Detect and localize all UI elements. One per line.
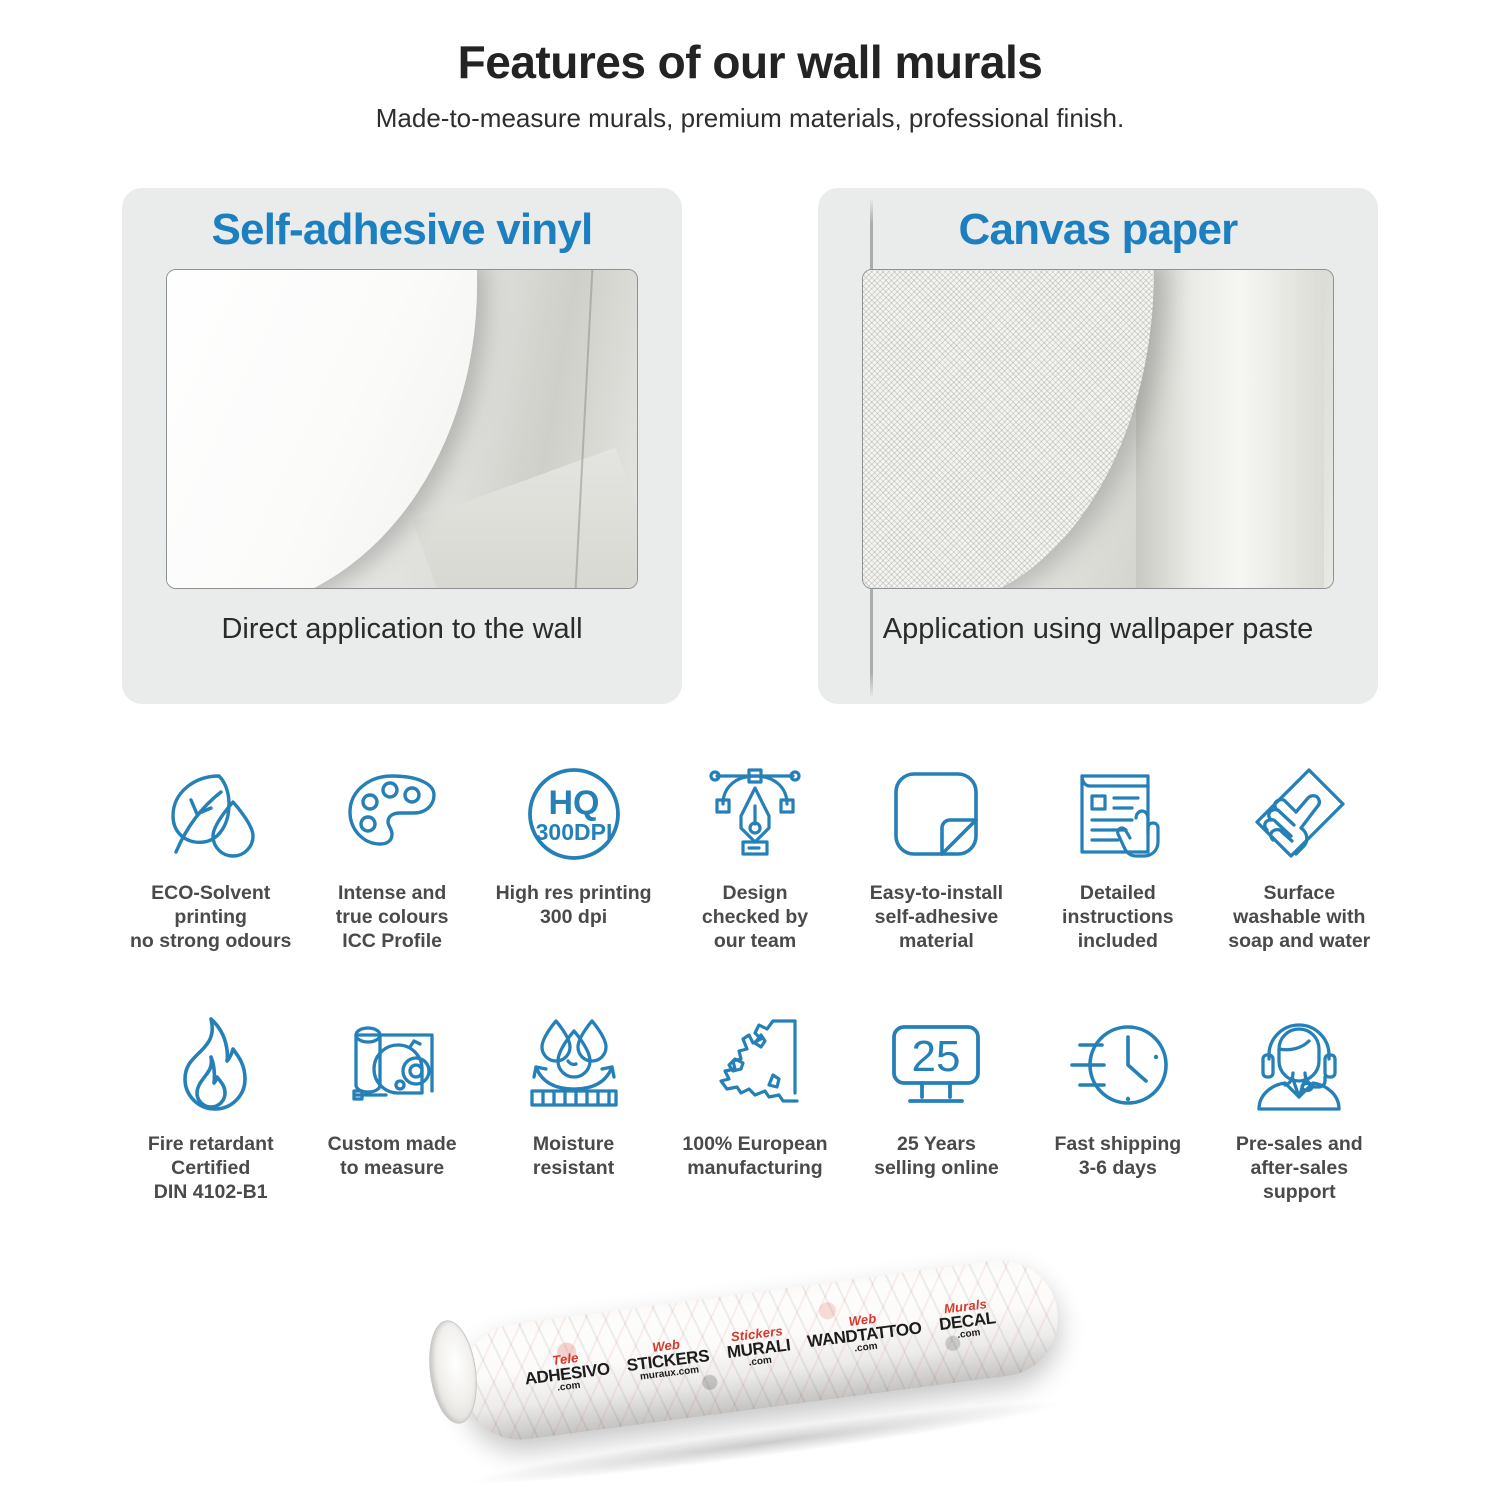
feature-label: 100% European manufacturing (682, 1133, 827, 1181)
feature-label: High res printing 300 dpi (496, 882, 652, 930)
feature-european-manufacturing: 100% European manufacturing (664, 1009, 845, 1204)
feature-label: Fire retardant Certified DIN 4102-B1 (148, 1133, 274, 1204)
feature-design-check: Design checked by our team (664, 758, 845, 953)
card-title-canvas: Canvas paper (959, 202, 1238, 257)
feature-label: Custom made to measure (328, 1133, 457, 1181)
feature-support: Pre-sales and after-sales support (1209, 1009, 1390, 1204)
feature-label: 25 Years selling online (874, 1133, 999, 1181)
paint-palette-icon (340, 758, 444, 870)
feature-25-years: 25 25 Years selling online (846, 1009, 1027, 1204)
feature-eco-solvent: ECO-Solvent printing no strong odours (120, 758, 301, 953)
canvas-photo (862, 269, 1334, 589)
feature-label: Intense and true colours ICC Profile (336, 882, 449, 953)
page-title: Features of our wall murals (0, 36, 1500, 89)
feature-icon-grid: ECO-Solvent printing no strong odours In… (120, 758, 1390, 1205)
features-page: Features of our wall murals Made-to-meas… (0, 0, 1500, 1500)
canvas-photo-roll (1136, 269, 1324, 589)
years-badge-value: 25 (912, 1032, 961, 1081)
cleaning-cloth-icon (1247, 758, 1351, 870)
card-caption-vinyl: Direct application to the wall (221, 611, 582, 649)
card-title-vinyl: Self-adhesive vinyl (212, 202, 593, 257)
feature-fast-shipping: Fast shipping 3-6 days (1027, 1009, 1208, 1204)
feature-fire-retardant: Fire retardant Certified DIN 4102-B1 (120, 1009, 301, 1204)
page-header: Features of our wall murals Made-to-meas… (0, 0, 1500, 134)
feature-label: ECO-Solvent printing no strong odours (130, 882, 291, 953)
feature-label: Surface washable with soap and water (1228, 882, 1370, 953)
tube-brand: Tele ADHESIVO .com (522, 1347, 612, 1397)
hq-300dpi-badge-icon: HQ 300DPI (522, 758, 626, 870)
hq-badge-top: HQ (548, 784, 599, 822)
water-repellent-icon (522, 1009, 626, 1121)
feature-label: Fast shipping 3-6 days (1054, 1133, 1181, 1181)
feature-label: Pre-sales and after-sales support (1236, 1133, 1363, 1204)
material-card-canvas: Canvas paper Application using wallpaper… (818, 188, 1378, 704)
feature-label: Moisture resistant (533, 1133, 614, 1181)
tube-brand: Stickers MURALI .com (724, 1324, 792, 1371)
feature-label: Detailed instructions included (1062, 882, 1174, 953)
leaf-droplet-icon (159, 758, 263, 870)
tube-brand: Web STICKERS muraux.com (624, 1334, 711, 1384)
feature-instructions: Detailed instructions included (1027, 758, 1208, 953)
page-subtitle: Made-to-measure murals, premium material… (0, 103, 1500, 134)
feature-high-res: HQ 300DPI High res printing 300 dpi (483, 758, 664, 953)
tube-brand: Murals DECAL .com (936, 1296, 997, 1343)
roll-tape-measure-icon (340, 1009, 444, 1121)
feature-true-colours: Intense and true colours ICC Profile (301, 758, 482, 953)
card-caption-canvas: Application using wallpaper paste (883, 611, 1313, 649)
feature-label: Design checked by our team (702, 882, 808, 953)
instructions-hand-icon (1066, 758, 1170, 870)
fast-clock-icon (1066, 1009, 1170, 1121)
hq-badge-bottom: 300DPI (535, 819, 612, 845)
pen-tool-icon (703, 758, 807, 870)
feature-moisture-resistant: Moisture resistant (483, 1009, 664, 1204)
headset-agent-icon (1247, 1009, 1351, 1121)
product-tube: Tele ADHESIVO .com Web STICKERS muraux.c… (400, 1262, 1120, 1492)
tube-brand: Web WANDTATTOO .com (805, 1306, 924, 1360)
material-comparison: Self-adhesive vinyl Direct application t… (122, 188, 1378, 704)
vinyl-photo (166, 269, 638, 589)
material-card-vinyl: Self-adhesive vinyl Direct application t… (122, 188, 682, 704)
feature-label: Easy-to-install self-adhesive material (870, 882, 1003, 953)
europe-map-icon (703, 1009, 807, 1121)
feature-easy-install: Easy-to-install self-adhesive material (846, 758, 1027, 953)
monitor-25-icon: 25 (884, 1009, 988, 1121)
flame-icon (159, 1009, 263, 1121)
feature-custom-made: Custom made to measure (301, 1009, 482, 1204)
feature-washable: Surface washable with soap and water (1209, 758, 1390, 953)
peel-sticker-icon (884, 758, 988, 870)
